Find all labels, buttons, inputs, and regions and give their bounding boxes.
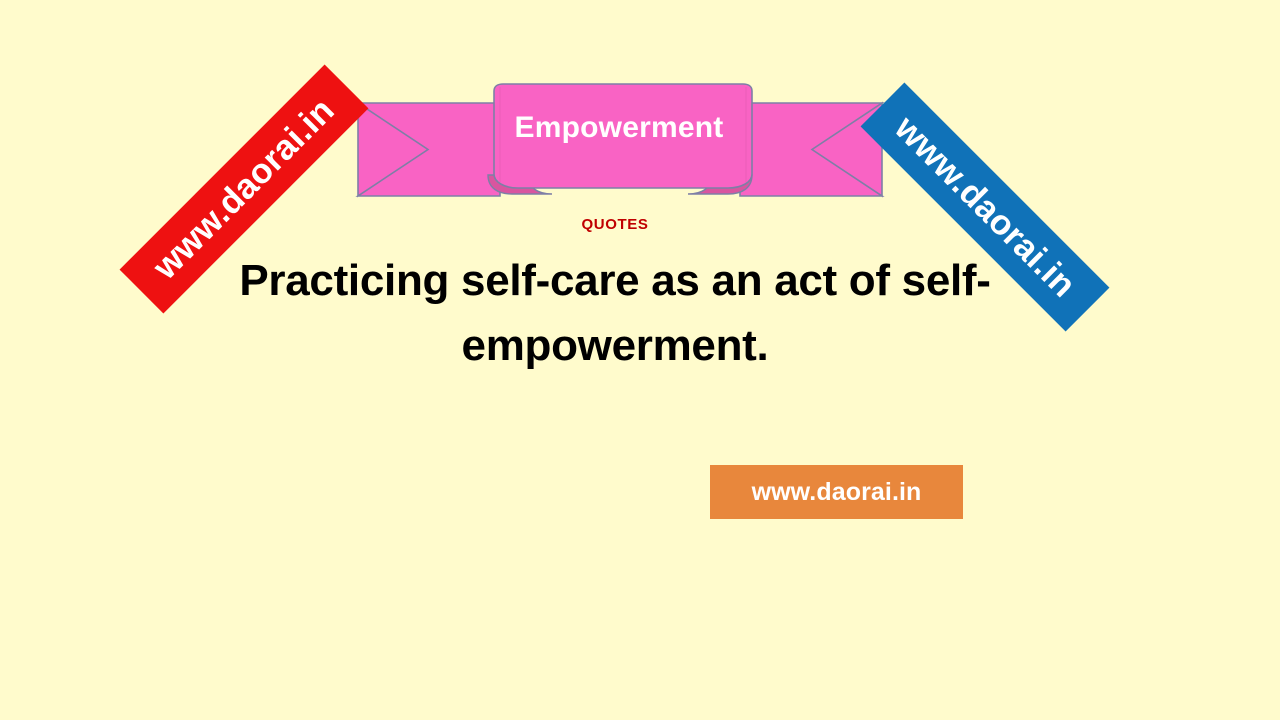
ribbon-right-wing — [740, 103, 882, 196]
footer-site-badge[interactable]: www.daorai.in — [710, 465, 963, 519]
ribbon-graphic — [340, 70, 900, 210]
ribbon-center-panel — [494, 84, 752, 188]
ribbon-banner: Empowerment — [340, 70, 900, 210]
quote-card-canvas: Empowerment QUOTES Practicing self-care … — [0, 0, 1280, 720]
quote-body-text: Practicing self-care as an act of self-e… — [215, 248, 1015, 378]
footer-site-label: www.daorai.in — [752, 478, 922, 507]
ribbon-left-wing — [358, 103, 500, 196]
